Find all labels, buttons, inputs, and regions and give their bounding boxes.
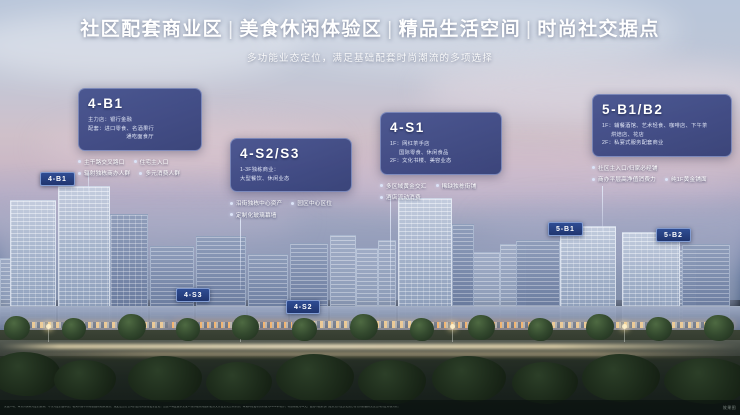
bullet-dot-icon <box>380 196 383 199</box>
foreground-tree <box>206 362 272 404</box>
callout-line: 国际零食、休闲食品 <box>390 149 492 158</box>
callout-line: 2F：私宴式服务配套商业 <box>602 139 722 148</box>
bullet-dot-icon <box>230 213 233 216</box>
bullet-row: 社区主入口/归家必经铺 <box>592 164 732 172</box>
bullet-label: 商办平层高净值消费力 <box>598 175 656 183</box>
foreground-tree <box>276 354 354 402</box>
callout-line: 主力店：银行金融 <box>88 116 192 125</box>
bullet-item: 主干路交叉路口 <box>78 158 125 166</box>
callout-line: 通吃面食厅 <box>88 133 192 142</box>
street-tree <box>4 316 30 340</box>
bullet-row: 定制化玻璃幕墙 <box>230 211 352 219</box>
building-tag-5b2[interactable]: 5-B2 <box>656 228 691 242</box>
page-subtitle: 多功能业态定位，满足基础配套时尚潮流的多项选择 <box>0 50 740 64</box>
callout-code: 4-B1 <box>88 96 192 111</box>
bullet-dot-icon <box>380 184 383 187</box>
title-separator: | <box>526 19 532 40</box>
building-tag-5b1[interactable]: 5-B1 <box>548 222 583 236</box>
street-lamp <box>452 326 453 342</box>
bullet-label: 酒店流动消费 <box>386 193 421 201</box>
callout-line: 1F：网红茶手店 <box>390 140 492 149</box>
callout-code: 5-B1/B2 <box>602 102 722 117</box>
bullet-label: 定制化玻璃幕墙 <box>236 211 277 219</box>
street-tree <box>704 315 734 341</box>
bullet-label: 园区中心区位 <box>297 199 332 207</box>
bullet-item: 商办平层高净值消费力 <box>592 175 656 183</box>
bullet-dot-icon <box>78 160 81 163</box>
callout-line: 2F：文化书楼、美容业态 <box>390 157 492 166</box>
road-light-trail <box>0 344 740 349</box>
callout-4s2s3[interactable]: 4-S2/S3 1-3F独栋商业： 大型餐饮、休闲业态 沿街独栋中心资产 园区中… <box>230 138 352 222</box>
bullet-row: 酒店流动消费 <box>380 193 502 201</box>
bullet-item: 住宅主入口 <box>134 158 169 166</box>
street-tree <box>118 314 146 340</box>
title-part-3: 精品生活空间 <box>399 19 521 40</box>
street-tree <box>350 314 378 340</box>
street-tree <box>528 318 553 341</box>
street-lamp <box>48 326 49 342</box>
callout-card-4s1: 4-S1 1F：网红茶手店 国际零食、休闲食品 2F：文化书楼、美容业态 <box>380 112 502 175</box>
foreground-tree <box>582 354 660 402</box>
callout-code: 4-S1 <box>390 120 492 135</box>
legal-disclaimer: 免责声明：本宣传资料为要约邀请，不作为要约或承诺，相关内容不排除因政府相关规划、… <box>4 406 400 409</box>
page-title: 社区配套商业区|美食休闲体验区|精品生活空间|时尚社交据点 <box>0 14 740 41</box>
callout-leader-line <box>240 218 241 290</box>
callout-card-4s2s3: 4-S2/S3 1-3F独栋商业： 大型餐饮、休闲业态 <box>230 138 352 192</box>
bullet-dot-icon <box>134 160 137 163</box>
building-tag-4s2[interactable]: 4-S2 <box>286 300 320 314</box>
callout-description: 1F：网红茶手店 国际零食、休闲食品 2F：文化书楼、美容业态 <box>390 140 492 166</box>
bullet-dot-icon <box>230 202 233 205</box>
bullet-item: 多元消费人群 <box>139 169 180 177</box>
callout-bullets-5b1b2: 社区主入口/归家必经铺 商办平层高净值消费力 纯1F黄金铺面 <box>592 164 732 184</box>
bullet-row: 主干路交叉路口 住宅主入口 <box>78 158 202 166</box>
bullet-item: 定制化玻璃幕墙 <box>230 211 277 219</box>
bullet-item: 纯1F黄金铺面 <box>665 175 707 183</box>
bullet-label: 多区域黄金交汇 <box>386 182 427 190</box>
foreground-tree <box>54 360 116 400</box>
callout-5b1b2[interactable]: 5-B1/B2 1F：辅餐酒馆、艺术轻食、咖啡店、下午茶 烘焙店、花店 2F：私… <box>592 94 732 187</box>
bullet-item: 园区中心区位 <box>291 199 332 207</box>
bullet-label: 主干路交叉路口 <box>84 158 125 166</box>
street-lamp <box>624 326 625 342</box>
title-part-1: 社区配套商业区 <box>80 19 223 40</box>
street-tree <box>586 314 614 340</box>
render-notice: 效果图 <box>718 405 736 411</box>
bullet-item: 辐射独栋商办人群 <box>78 169 130 177</box>
bullet-label: 沿街独栋中心资产 <box>236 199 282 207</box>
bullet-label: 多元消费人群 <box>145 169 180 177</box>
callout-bullets-4b1: 主干路交叉路口 住宅主入口 辐射独栋商办人群 多元消费人群 <box>78 158 202 178</box>
foreground-tree <box>432 356 506 402</box>
callout-4b1[interactable]: 4-B1 主力店：银行金融 配套：进口零食、名酒果行 通吃面食厅 主干路交叉路口… <box>78 88 202 181</box>
foreground-tree <box>358 360 426 404</box>
street-tree <box>410 318 434 341</box>
callout-leader-line <box>390 196 391 306</box>
foreground-tree <box>512 362 578 404</box>
callout-description: 1-3F独栋商业： 大型餐饮、休闲业态 <box>240 166 342 183</box>
bullet-label: 辐射独栋商办人群 <box>84 169 130 177</box>
callout-leader-line <box>602 186 603 232</box>
bullet-label: 稀缺独栋街铺 <box>442 182 477 190</box>
bullet-dot-icon <box>592 166 595 169</box>
callout-line: 配套：进口零食、名酒果行 <box>88 125 192 134</box>
callout-4s1[interactable]: 4-S1 1F：网红茶手店 国际零食、休闲食品 2F：文化书楼、美容业态 多区域… <box>380 112 502 205</box>
bullet-item: 多区域黄金交汇 <box>380 182 427 190</box>
street-tree <box>468 315 495 340</box>
bullet-dot-icon <box>291 202 294 205</box>
callout-description: 主力店：银行金融 配套：进口零食、名酒果行 通吃面食厅 <box>88 116 192 142</box>
foreground-tree <box>128 356 202 402</box>
footer-bar: 免责声明：本宣传资料为要约邀请，不作为要约或承诺，相关内容不排除因政府相关规划、… <box>0 400 740 415</box>
marketing-render-stage: 社区配套商业区|美食休闲体验区|精品生活空间|时尚社交据点 多功能业态定位，满足… <box>0 0 740 415</box>
bullet-label: 住宅主入口 <box>140 158 169 166</box>
street-tree <box>232 315 259 340</box>
title-part-2: 美食休闲体验区 <box>239 19 382 40</box>
street-tree <box>646 317 672 341</box>
callout-line: 1-3F独栋商业： <box>240 166 342 175</box>
bullet-item: 酒店流动消费 <box>380 193 421 201</box>
bullet-dot-icon <box>592 178 595 181</box>
building-tag-4s3[interactable]: 4-S3 <box>176 288 210 302</box>
street-tree <box>292 318 317 341</box>
bullet-item: 社区主入口/归家必经铺 <box>592 164 658 172</box>
street-tree <box>62 318 86 340</box>
bullet-dot-icon <box>665 178 668 181</box>
building-tag-4b1[interactable]: 4-B1 <box>40 172 75 186</box>
bullet-label: 纯1F黄金铺面 <box>671 175 707 183</box>
bullet-item: 稀缺独栋街铺 <box>436 182 477 190</box>
callout-card-5b1b2: 5-B1/B2 1F：辅餐酒馆、艺术轻食、咖啡店、下午茶 烘焙店、花店 2F：私… <box>592 94 732 157</box>
bullet-dot-icon <box>78 172 81 175</box>
bullet-row: 多区域黄金交汇 稀缺独栋街铺 <box>380 182 502 190</box>
bullet-row: 商办平层高净值消费力 纯1F黄金铺面 <box>592 175 732 183</box>
callout-bullets-4s2s3: 沿街独栋中心资产 园区中心区位 定制化玻璃幕墙 <box>230 199 352 219</box>
callout-bullets-4s1: 多区域黄金交汇 稀缺独栋街铺 酒店流动消费 <box>380 182 502 202</box>
bullet-row: 辐射独栋商办人群 多元消费人群 <box>78 169 202 177</box>
callout-code: 4-S2/S3 <box>240 146 342 161</box>
title-part-4: 时尚社交据点 <box>537 19 659 40</box>
bullet-item: 沿街独栋中心资产 <box>230 199 282 207</box>
callout-card-4b1: 4-B1 主力店：银行金融 配套：进口零食、名酒果行 通吃面食厅 <box>78 88 202 151</box>
callout-line: 烘焙店、花店 <box>602 131 722 140</box>
title-separator: | <box>228 19 234 40</box>
bullet-row: 沿街独栋中心资产 园区中心区位 <box>230 199 352 207</box>
bullet-dot-icon <box>436 184 439 187</box>
street-tree <box>176 318 200 341</box>
header-band: 社区配套商业区|美食休闲体验区|精品生活空间|时尚社交据点 多功能业态定位，满足… <box>0 14 740 64</box>
title-separator: | <box>387 19 393 40</box>
callout-line: 大型餐饮、休闲业态 <box>240 175 342 184</box>
callout-line: 1F：辅餐酒馆、艺术轻食、咖啡店、下午茶 <box>602 122 722 131</box>
callout-description: 1F：辅餐酒馆、艺术轻食、咖啡店、下午茶 烘焙店、花店 2F：私宴式服务配套商业 <box>602 122 722 148</box>
bullet-label: 社区主入口/归家必经铺 <box>598 164 658 172</box>
bullet-dot-icon <box>139 172 142 175</box>
